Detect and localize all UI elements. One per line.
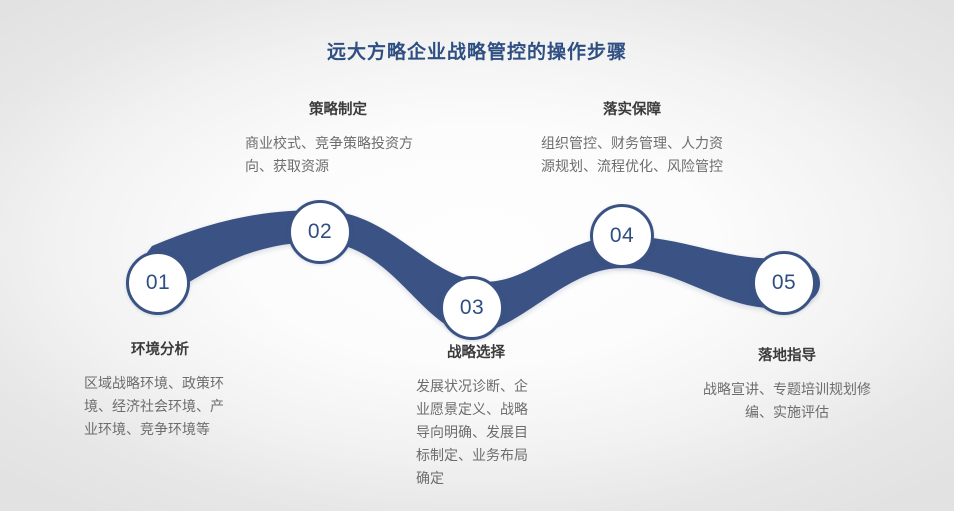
step-heading-01: 环境分析 — [84, 338, 236, 359]
step-node-03[interactable]: 03 — [440, 276, 504, 340]
step-body-03: 发展状况诊断、企业愿景定义、战略导向明确、发展目标制定、业务布局确定 — [416, 375, 536, 490]
step-number-04: 04 — [610, 224, 634, 248]
step-heading-03: 战略选择 — [416, 341, 536, 362]
step-text-block-02: 策略制定 商业校式、竞争策略投资方向、获取资源 — [245, 98, 431, 178]
step-number-03: 03 — [460, 296, 484, 320]
step-heading-02: 策略制定 — [245, 98, 431, 119]
infographic-canvas: 远大方略企业战略管控的操作步骤 01 02 03 04 05 环境分析 区域战略… — [0, 0, 954, 511]
page-title: 远大方略企业战略管控的操作步骤 — [0, 37, 954, 64]
step-text-block-03: 战略选择 发展状况诊断、企业愿景定义、战略导向明确、发展目标制定、业务布局确定 — [416, 341, 536, 490]
step-body-05: 战略宣讲、专题培训规划修编、实施评估 — [698, 378, 876, 424]
step-heading-05: 落地指导 — [698, 344, 876, 365]
step-body-02: 商业校式、竞争策略投资方向、获取资源 — [245, 132, 431, 178]
step-number-05: 05 — [772, 271, 796, 295]
step-heading-04: 落实保障 — [541, 98, 723, 119]
step-node-01[interactable]: 01 — [126, 251, 190, 315]
step-text-block-05: 落地指导 战略宣讲、专题培训规划修编、实施评估 — [698, 344, 876, 424]
step-node-05[interactable]: 05 — [752, 251, 816, 315]
step-number-02: 02 — [308, 220, 332, 244]
step-body-01: 区域战略环境、政策环境、经济社会环境、产业环境、竞争环境等 — [84, 372, 236, 441]
step-node-02[interactable]: 02 — [288, 200, 352, 264]
step-node-04[interactable]: 04 — [590, 204, 654, 268]
step-number-01: 01 — [146, 271, 170, 295]
step-text-block-04: 落实保障 组织管控、财务管理、人力资源规划、流程优化、风险管控 — [541, 98, 723, 178]
step-text-block-01: 环境分析 区域战略环境、政策环境、经济社会环境、产业环境、竞争环境等 — [84, 338, 236, 441]
step-body-04: 组织管控、财务管理、人力资源规划、流程优化、风险管控 — [541, 132, 723, 178]
